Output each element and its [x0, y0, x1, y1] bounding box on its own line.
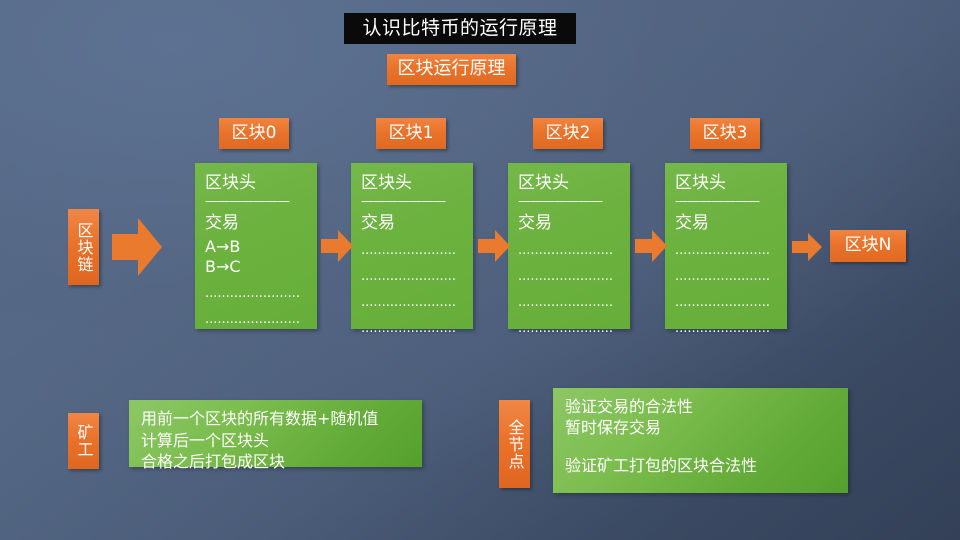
blockchain-label-chip: 区块链 [68, 209, 99, 285]
full-node-label-text: 全节点 [505, 419, 525, 470]
block-0-dots-1: ······················· [205, 317, 307, 330]
block-n-label: 区块N [845, 237, 892, 255]
block-link-arrow-icon-2 [635, 229, 667, 263]
block-1-header: 区块头 [361, 173, 463, 193]
block-label-3-text: 区块3 [703, 125, 748, 143]
block-label-2: 区块2 [533, 118, 603, 149]
block-n-chip: 区块N [830, 230, 906, 262]
block-label-1: 区块1 [376, 118, 446, 149]
block-0-dots-0: ······················· [205, 291, 307, 304]
full-node-spacer [565, 439, 836, 455]
block-0-entry-1: B→C [205, 257, 307, 277]
block-1-dots-2: ······················· [361, 300, 463, 313]
block-3-dots-3: ······················· [675, 326, 777, 339]
miner-description-panel: 用前一个区块的所有数据+随机值 计算后一个区块头 合格之后打包成区块 [129, 400, 422, 467]
full-node-line-0: 验证交易的合法性 [565, 396, 836, 417]
block-2-dots-1: ······················· [518, 274, 620, 287]
subtitle-label: 区块运行原理 [398, 60, 506, 79]
block-label-1-text: 区块1 [389, 125, 434, 143]
block-label-0: 区块0 [219, 118, 289, 149]
block-0-rule: ——————— [205, 195, 307, 208]
block-3-dots-2: ······················· [675, 300, 777, 313]
block-label-3: 区块3 [690, 118, 760, 149]
subtitle-chip: 区块运行原理 [387, 54, 516, 85]
block-0-entry-0: A→B [205, 237, 307, 257]
block-card-2: 区块头 ——————— 交易 ······················· ·… [508, 163, 630, 329]
block-1-dots-1: ······················· [361, 274, 463, 287]
full-node-line-1: 暂时保存交易 [565, 417, 836, 438]
miner-line-1: 计算后一个区块头 [141, 430, 410, 452]
block-2-dots-2: ······················· [518, 300, 620, 313]
slide-title-bar: 认识比特币的运行原理 [344, 13, 576, 44]
block-label-2-text: 区块2 [546, 125, 591, 143]
block-card-3: 区块头 ——————— 交易 ······················· ·… [665, 163, 787, 329]
block-card-1: 区块头 ——————— 交易 ······················· ·… [351, 163, 473, 329]
block-2-tx-title: 交易 [518, 213, 620, 234]
block-link-arrow-icon-1 [478, 229, 510, 263]
block-2-rule: ——————— [518, 195, 620, 208]
block-0-tx-title: 交易 [205, 213, 307, 234]
block-2-header: 区块头 [518, 173, 620, 193]
block-card-0: 区块头 ——————— 交易 A→B B→C ·················… [195, 163, 317, 329]
block-label-0-text: 区块0 [232, 125, 277, 143]
blockchain-label-text: 区块链 [74, 222, 94, 273]
block-0-header: 区块头 [205, 173, 307, 193]
full-node-line-2: 验证矿工打包的区块合法性 [565, 455, 836, 476]
block-3-rule: ——————— [675, 195, 777, 208]
block-1-rule: ——————— [361, 195, 463, 208]
slide-canvas: 认识比特币的运行原理 区块运行原理 区块0 区块1 区块2 区块3 区块链 区块… [0, 0, 960, 540]
slide-title: 认识比特币的运行原理 [362, 19, 557, 38]
block-3-dots-0: ······················· [675, 248, 777, 261]
chain-entry-arrow-icon [112, 216, 162, 278]
block-3-header: 区块头 [675, 173, 777, 193]
block-link-arrow-icon-3 [792, 232, 822, 262]
block-3-dots-1: ······················· [675, 274, 777, 287]
block-1-tx-title: 交易 [361, 213, 463, 234]
full-node-description-panel: 验证交易的合法性 暂时保存交易 验证矿工打包的区块合法性 [553, 388, 848, 493]
miner-line-2: 合格之后打包成区块 [141, 451, 410, 473]
miner-line-0: 用前一个区块的所有数据+随机值 [141, 408, 410, 430]
block-link-arrow-icon-0 [321, 229, 353, 263]
full-node-label-chip: 全节点 [499, 400, 530, 488]
block-1-dots-3: ······················· [361, 326, 463, 339]
block-3-tx-title: 交易 [675, 213, 777, 234]
block-1-dots-0: ······················· [361, 248, 463, 261]
miner-label-chip: 矿工 [68, 413, 99, 469]
block-2-dots-0: ······················· [518, 248, 620, 261]
block-2-dots-3: ······················· [518, 326, 620, 339]
miner-label-text: 矿工 [74, 424, 94, 458]
